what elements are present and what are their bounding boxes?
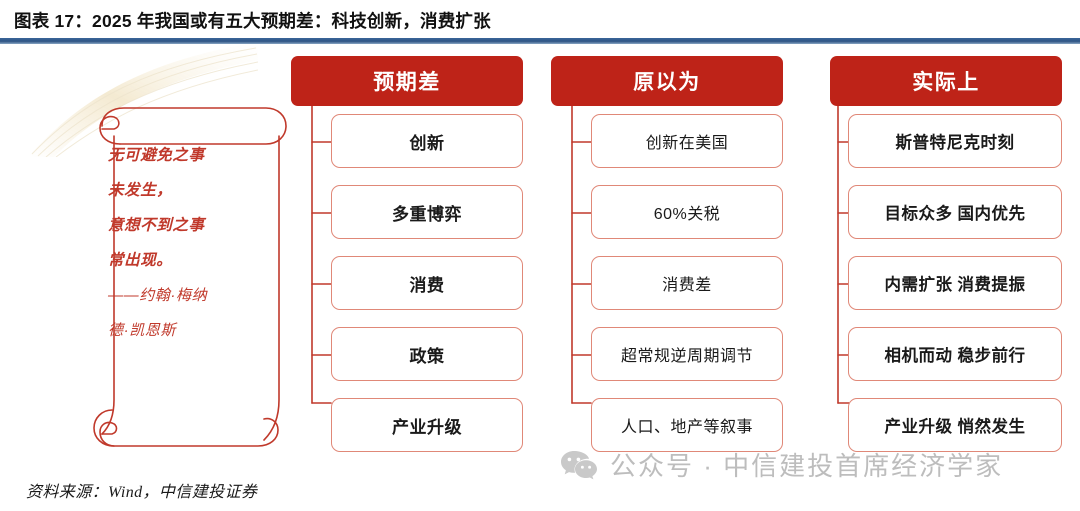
item-box[interactable]: 斯普特尼克时刻 (848, 114, 1062, 168)
items-previously-believed: 创新在美国 60%关税 消费差 超常规逆周期调节 人口、地产等叙事 (591, 114, 783, 469)
quote-line-4: 常出现。 (108, 243, 273, 278)
item-box[interactable]: 政策 (331, 327, 523, 381)
item-box[interactable]: 内需扩张 消费提振 (848, 256, 1062, 310)
item-box[interactable]: 目标众多 国内优先 (848, 185, 1062, 239)
column-previously-believed: 原以为 创新在美国 60%关税 消费差 超常规逆周期调节 人口、地产等叙事 (551, 56, 783, 106)
quote-scroll: 无可避免之事 未发生， 意想不到之事 常出现。 ——约翰·梅纳 德·凯恩斯 (80, 100, 300, 450)
quote-line-3: 意想不到之事 (108, 208, 273, 243)
item-box[interactable]: 产业升级 (331, 398, 523, 452)
tree-connector-3 (830, 106, 850, 506)
page-title: 图表 17：2025 年我国或有五大预期差：科技创新，消费扩张 (14, 8, 491, 33)
items-expectation-gap: 创新 多重博弈 消费 政策 产业升级 (331, 114, 523, 469)
item-box[interactable]: 相机而动 稳步前行 (848, 327, 1062, 381)
item-box[interactable]: 消费 (331, 256, 523, 310)
quote-attribution-1: ——约翰·梅纳 (108, 278, 273, 313)
quote-attribution-2: 德·凯恩斯 (108, 313, 273, 348)
column-header-expectation-gap: 预期差 (291, 56, 523, 106)
quote-text: 无可避免之事 未发生， 意想不到之事 常出现。 ——约翰·梅纳 德·凯恩斯 (108, 138, 273, 348)
item-box[interactable]: 消费差 (591, 256, 783, 310)
figure-page: 图表 17：2025 年我国或有五大预期差：科技创新，消费扩张 无可避免之事 未… (0, 0, 1080, 511)
item-box[interactable]: 创新 (331, 114, 523, 168)
column-in-reality: 实际上 斯普特尼克时刻 目标众多 国内优先 内需扩张 消费提振 相机而动 稳步前… (830, 56, 1062, 106)
items-in-reality: 斯普特尼克时刻 目标众多 国内优先 内需扩张 消费提振 相机而动 稳步前行 产业… (848, 114, 1062, 469)
column-header-previously-believed: 原以为 (551, 56, 783, 106)
item-box[interactable]: 人口、地产等叙事 (591, 398, 783, 452)
item-box[interactable]: 产业升级 悄然发生 (848, 398, 1062, 452)
title-divider (0, 38, 1080, 44)
item-box[interactable]: 超常规逆周期调节 (591, 327, 783, 381)
quote-line-1: 无可避免之事 (108, 138, 273, 173)
column-header-in-reality: 实际上 (830, 56, 1062, 106)
tree-connector-2 (551, 106, 593, 506)
item-box[interactable]: 多重博弈 (331, 185, 523, 239)
item-box[interactable]: 创新在美国 (591, 114, 783, 168)
quote-line-2: 未发生， (108, 173, 273, 208)
source-note: 资料来源：Wind，中信建投证券 (26, 478, 257, 502)
item-box[interactable]: 60%关税 (591, 185, 783, 239)
column-expectation-gap: 预期差 创新 多重博弈 消费 政策 产业升级 (291, 56, 523, 106)
